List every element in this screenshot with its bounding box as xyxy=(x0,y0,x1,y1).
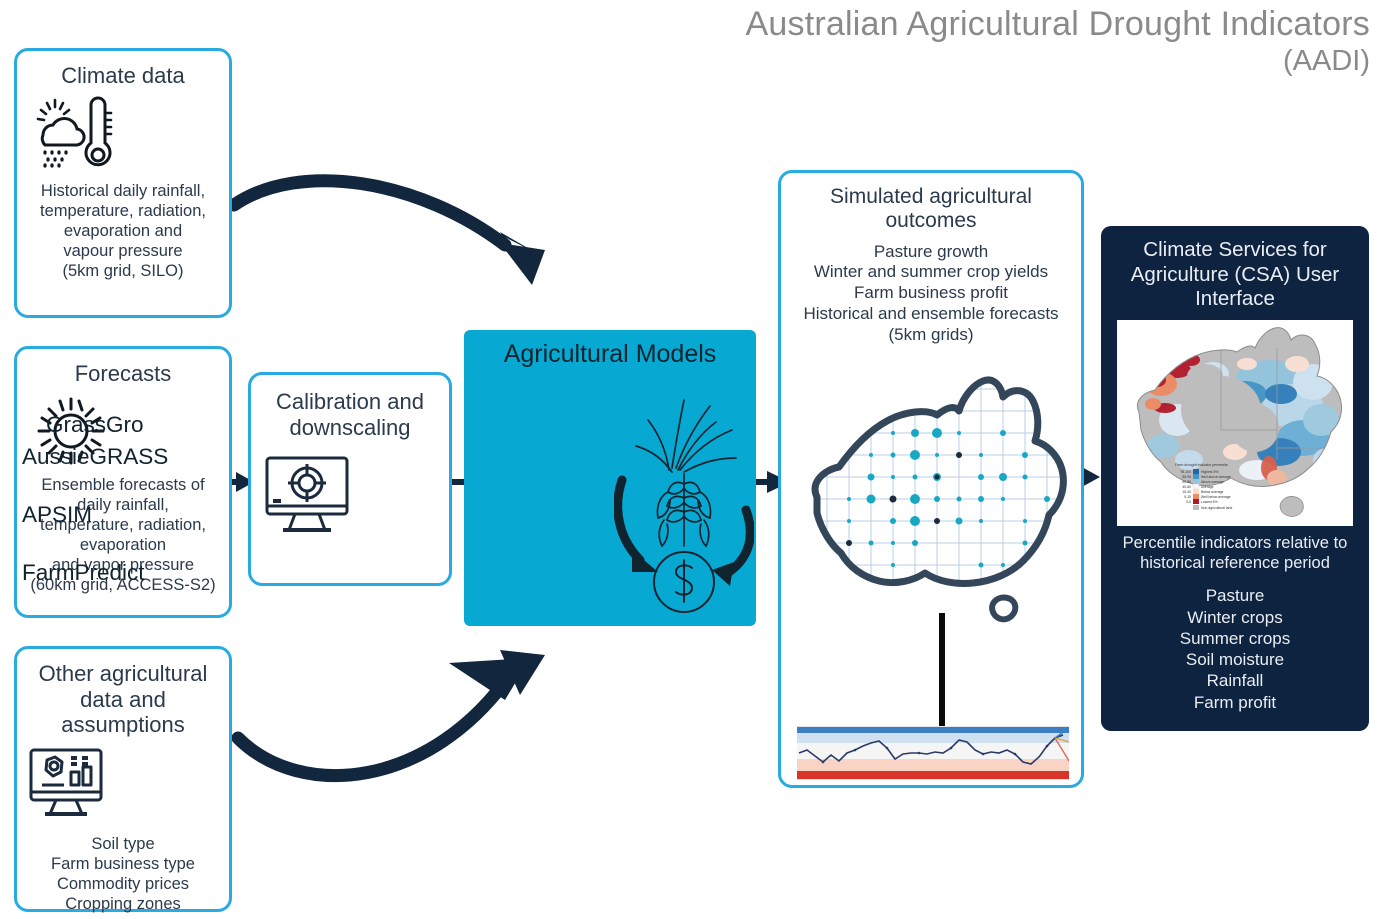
calibration-title-line-3: downscaling xyxy=(289,415,410,440)
svg-text:5-15: 5-15 xyxy=(1184,495,1191,499)
svg-text:15-40: 15-40 xyxy=(1182,490,1191,494)
calibration-downscaling-box[interactable]: Calibration and downscaling xyxy=(248,372,452,586)
wheat-icon xyxy=(657,474,710,546)
csa-indicator-pasture[interactable]: Pasture xyxy=(1109,585,1361,606)
svg-text:Highest 5%: Highest 5% xyxy=(1201,470,1218,474)
other-agricultural-data-description: Soil type Farm business type Commodity p… xyxy=(23,834,223,915)
forecasts-title: Forecasts xyxy=(23,361,223,387)
csa-map-panel[interactable]: 2024-25 xyxy=(1117,320,1353,526)
csa-indicator-list: Pasture Winter crops Summer crops Soil m… xyxy=(1109,585,1361,713)
models-icon-cluster xyxy=(614,390,754,620)
csa-indicator-farm-profit[interactable]: Farm profit xyxy=(1109,692,1361,713)
outcomes-title-line-1: Simulated agricultural xyxy=(830,185,1032,208)
csa-indicator-summer-crops[interactable]: Summer crops xyxy=(1109,628,1361,649)
svg-text:Well above average: Well above average xyxy=(1201,475,1231,479)
climate-to-models-arrow xyxy=(234,181,545,285)
monitor-target-icon xyxy=(259,454,441,542)
simulated-outcomes-box[interactable]: Simulated agricultural outcomes Pasture … xyxy=(778,170,1084,788)
farm-drought-percentile-map: Farm drought indicator percentile 95-100… xyxy=(1117,320,1353,526)
calibration-title: Calibration and downscaling xyxy=(259,389,441,440)
climate-line-5: (5km grid, SILO) xyxy=(25,261,221,281)
models-title-line-1: Agricultural xyxy=(504,340,629,368)
grass-icon xyxy=(636,400,736,472)
climate-data-description: Historical daily rainfall, temperature, … xyxy=(25,181,221,282)
svg-text:Well below average: Well below average xyxy=(1201,495,1231,499)
climate-line-2: temperature, radiation, xyxy=(25,201,221,221)
csa-user-interface-box[interactable]: Climate Services for Agriculture (CSA) U… xyxy=(1101,226,1369,731)
calibration-title-line-2: and xyxy=(387,389,424,414)
thermometer-weather-icon xyxy=(25,95,221,173)
svg-text:40-60: 40-60 xyxy=(1182,485,1191,489)
agricultural-models-box[interactable]: Agricultural Models xyxy=(464,330,756,626)
csa-indicator-soil-moisture[interactable]: Soil moisture xyxy=(1109,649,1361,670)
other-agricultural-data-title: Other agricultural data and assumptions xyxy=(23,661,223,738)
outcomes-line-3: Farm business profit xyxy=(787,283,1075,304)
climate-data-box[interactable]: Climate data xyxy=(14,48,232,318)
climate-line-1: Historical daily rainfall, xyxy=(25,181,221,201)
svg-text:Above average: Above average xyxy=(1201,480,1224,484)
climate-line-4: vapour pressure xyxy=(25,241,221,261)
csa-footer-description: Percentile indicators relative to histor… xyxy=(1109,534,1361,574)
calibration-title-line-1: Calibration xyxy=(276,389,381,414)
svg-text:Below average: Below average xyxy=(1201,490,1224,494)
simulated-outcomes-title: Simulated agricultural outcomes xyxy=(787,185,1075,234)
svg-text:Farm drought indicator percent: Farm drought indicator percentile xyxy=(1175,463,1228,467)
outcomes-line-2: Winter and summer crop yields xyxy=(787,262,1075,283)
csa-title-line-1: Climate Services for xyxy=(1143,238,1326,261)
agricultural-models-title: Agricultural Models xyxy=(464,340,756,369)
csa-title-line-2: Agriculture (CSA) xyxy=(1131,263,1291,286)
simulated-outcomes-description: Pasture growth Winter and summer crop yi… xyxy=(787,242,1075,346)
outcomes-title-line-2: outcomes xyxy=(885,209,976,232)
monitor-dashboard-icon xyxy=(23,744,223,824)
other-line-4: Cropping zones xyxy=(23,894,223,914)
diagram-canvas: Australian Agricultural Drought Indicato… xyxy=(0,0,1386,919)
models-title-line-2: Models xyxy=(636,340,717,368)
svg-text:85-95: 85-95 xyxy=(1182,475,1191,479)
climate-data-title: Climate data xyxy=(25,63,221,89)
outcomes-line-5: (5km grids) xyxy=(787,325,1075,346)
model-farmpredict[interactable]: FarmPredict xyxy=(22,560,145,586)
svg-text:95-100: 95-100 xyxy=(1180,470,1191,474)
svg-text:0-5: 0-5 xyxy=(1186,500,1191,504)
outcomes-line-4: Historical and ensemble forecasts xyxy=(787,304,1075,325)
other-line-3: Commodity prices xyxy=(23,874,223,894)
csa-footer-line-1: Percentile indicators relative xyxy=(1123,534,1329,552)
csa-indicator-winter-crops[interactable]: Winter crops xyxy=(1109,607,1361,628)
svg-text:Average: Average xyxy=(1201,485,1214,489)
tasmania-outline xyxy=(992,598,1015,620)
dollar-coin-icon xyxy=(654,552,714,612)
csa-indicator-rainfall[interactable]: Rainfall xyxy=(1109,670,1361,691)
model-grassgro[interactable]: GrassGro xyxy=(46,412,144,438)
csa-title: Climate Services for Agriculture (CSA) U… xyxy=(1109,238,1361,312)
tasmania-map-shape xyxy=(1280,496,1303,516)
model-apsim[interactable]: APSIM xyxy=(22,502,92,528)
australia-grid-map-icon xyxy=(787,349,1083,639)
forecasts-line-1: Ensemble forecasts of xyxy=(23,475,223,495)
other-line-1: Soil type xyxy=(23,834,223,854)
timeseries-chart-icon xyxy=(797,726,1069,780)
outcomes-line-1: Pasture growth xyxy=(787,242,1075,263)
model-aussiegrass[interactable]: AussieGRASS xyxy=(22,444,168,470)
other-line-2: Farm business type xyxy=(23,854,223,874)
other-to-models-arrow xyxy=(238,650,545,776)
svg-text:Lowest 5%: Lowest 5% xyxy=(1201,500,1218,504)
forecasts-line-4: evaporation xyxy=(23,535,223,555)
climate-line-3: evaporation and xyxy=(25,221,221,241)
other-agricultural-data-box[interactable]: Other agricultural data and assumptions xyxy=(14,646,232,912)
svg-text:60-85: 60-85 xyxy=(1182,480,1191,484)
curved-arrow-head-right xyxy=(712,562,734,586)
other-title-line-1: Other xyxy=(39,661,94,686)
svg-text:Non-agricultural land: Non-agricultural land xyxy=(1201,506,1232,510)
